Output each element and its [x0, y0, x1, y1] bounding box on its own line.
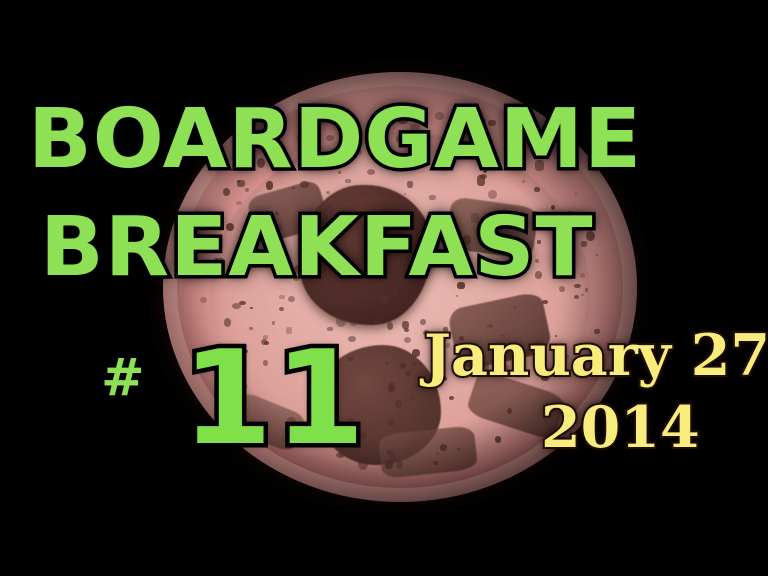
date-line-2: 2014 [541, 399, 700, 456]
show-title-line-1: BOARDGAME [28, 99, 642, 181]
episode-hash-symbol: # [101, 348, 145, 408]
title-card: BOARDGAME BREAKFAST # 11 January 27 2014 [0, 0, 768, 576]
date-line-1: January 27 [424, 327, 768, 384]
show-title-line-2: BREAKFAST [40, 207, 594, 289]
episode-number: 11 [182, 333, 367, 463]
